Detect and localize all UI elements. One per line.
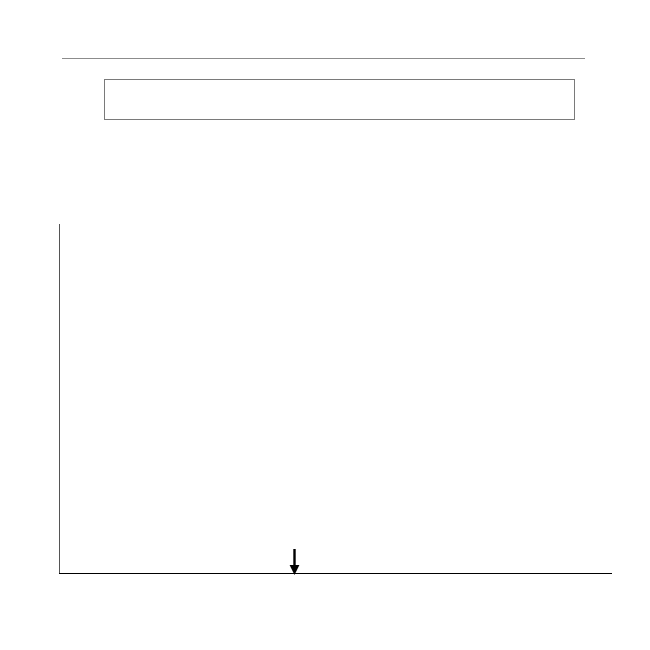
header-divider: [62, 58, 585, 59]
curtain-heatmap: [59, 224, 612, 574]
figure-canvas: [0, 0, 650, 650]
colorbar-gradient: [105, 80, 574, 119]
colorbar: [104, 79, 575, 120]
latitude-arrow-icon: [289, 549, 300, 575]
